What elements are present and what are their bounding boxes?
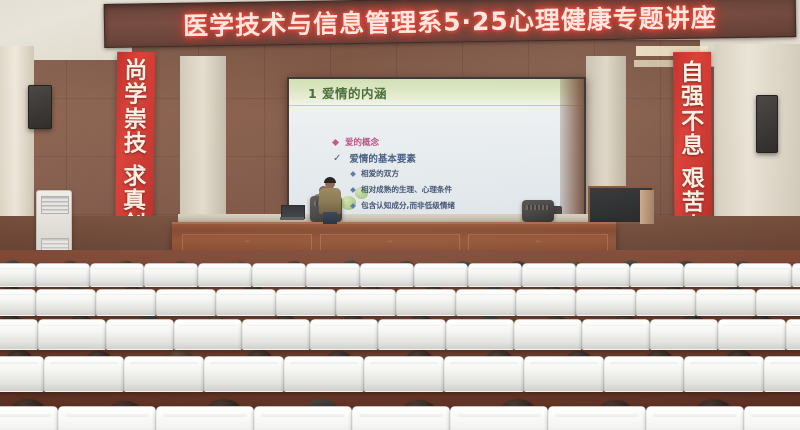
auditorium-seat bbox=[738, 263, 792, 287]
auditorium-seat bbox=[444, 356, 524, 392]
slogan-right-char-3: 息 bbox=[681, 134, 704, 159]
auditorium-seat bbox=[646, 406, 744, 430]
auditorium-seat bbox=[284, 356, 364, 392]
slogan-left-char-6: 真 bbox=[123, 189, 146, 214]
auditorium-seat bbox=[198, 263, 252, 287]
auditorium-seat bbox=[254, 406, 352, 430]
diamond-bullet-icon bbox=[350, 203, 356, 209]
auditorium-seat bbox=[468, 263, 522, 287]
auditorium-seat bbox=[0, 356, 44, 392]
auditorium-seat bbox=[156, 289, 216, 316]
auditorium-seat bbox=[792, 263, 800, 287]
auditorium-seat bbox=[516, 289, 576, 316]
audience-area bbox=[0, 250, 800, 430]
slogan-right-char-5: 艰 bbox=[682, 166, 705, 191]
presenter bbox=[319, 178, 341, 224]
slide-bullet-1-label: 爱的概念 bbox=[345, 136, 379, 148]
slide-header-band: 1 爱情的内涵 bbox=[289, 79, 584, 106]
slide-title: 1 爱情的内涵 bbox=[308, 83, 387, 102]
auditorium-seat bbox=[106, 319, 174, 350]
auditorium-seat bbox=[576, 289, 636, 316]
auditorium-seat bbox=[456, 289, 516, 316]
auditorium-seat bbox=[650, 319, 718, 350]
slide-sub-bullet: 相对成熟的生理、心理条件 bbox=[351, 184, 485, 195]
diamond-bullet-icon bbox=[350, 187, 356, 193]
wall-speaker-left-icon bbox=[28, 85, 52, 129]
slide-sub-bullet-label: 相爱的双方 bbox=[361, 168, 399, 179]
slogan-right-char-6: 苦 bbox=[682, 191, 705, 216]
auditorium-seat bbox=[204, 356, 284, 392]
event-banner-text: 医学技术与信息管理系5·25心理健康专题讲座 bbox=[183, 0, 717, 43]
auditorium-seat bbox=[96, 289, 156, 316]
screen-right-pillar-shadow bbox=[560, 79, 584, 218]
slide-bullet-2: ✓ 爱情的基本要素 bbox=[333, 151, 416, 165]
auditorium-seat bbox=[252, 263, 306, 287]
auditorium-seat bbox=[310, 319, 378, 350]
presenter-body bbox=[319, 188, 341, 214]
auditorium-seat bbox=[352, 406, 450, 430]
slide-sub-bullet: 相爱的双方 bbox=[351, 168, 485, 179]
auditorium-seat bbox=[144, 263, 198, 287]
auditorium-seat bbox=[450, 406, 548, 430]
auditorium-seat bbox=[378, 319, 446, 350]
auditorium-seat bbox=[242, 319, 310, 350]
stage-right-column bbox=[640, 190, 654, 224]
auditorium-seat bbox=[0, 319, 38, 350]
diamond-bullet-icon bbox=[332, 138, 339, 145]
auditorium-seat bbox=[36, 289, 96, 316]
auditorium-seat bbox=[36, 263, 90, 287]
auditorium-seat bbox=[684, 263, 738, 287]
slogan-right-char-2: 不 bbox=[681, 110, 704, 135]
auditorium-seat bbox=[684, 356, 764, 392]
auditorium-seat bbox=[156, 406, 254, 430]
auditorium-seat bbox=[360, 263, 414, 287]
auditorium-seat bbox=[174, 319, 242, 350]
auditorium-seat bbox=[216, 289, 276, 316]
slide-sub-bullet-label: 相对成熟的生理、心理条件 bbox=[361, 184, 452, 195]
wall-speaker-right-icon bbox=[756, 95, 778, 153]
auditorium-seat bbox=[0, 406, 58, 430]
presenter-hair bbox=[324, 177, 336, 183]
air-conditioner-vent-top bbox=[41, 196, 69, 214]
auditorium-seat bbox=[38, 319, 106, 350]
slide-sub-bullet: 包含认知成分,而非低级情绪 bbox=[351, 200, 485, 211]
auditorium-seat bbox=[396, 289, 456, 316]
auditorium-seat bbox=[576, 263, 630, 287]
slogan-left-char-2: 崇 bbox=[124, 108, 147, 133]
auditorium-seat bbox=[786, 319, 800, 350]
auditorium-seat bbox=[414, 263, 468, 287]
presenter-legs bbox=[323, 212, 337, 224]
slide-bullet-1: 爱的概念 bbox=[333, 136, 379, 148]
diamond-bullet-icon bbox=[350, 171, 356, 177]
slogan-left-char-5: 求 bbox=[123, 164, 146, 189]
laptop-base bbox=[280, 217, 304, 220]
slogan-right-char-0: 自 bbox=[681, 61, 704, 86]
auditorium-seat bbox=[306, 263, 360, 287]
auditorium-seat bbox=[604, 356, 684, 392]
auditorium-seat bbox=[124, 356, 204, 392]
auditorium-seat bbox=[336, 289, 396, 316]
auditorium-seat bbox=[276, 289, 336, 316]
auditorium-seat bbox=[696, 289, 756, 316]
auditorium-seat bbox=[548, 406, 646, 430]
auditorium-seat bbox=[630, 263, 684, 287]
slide-bullet-2-label: 爱情的基本要素 bbox=[349, 151, 416, 165]
auditorium-seat bbox=[636, 289, 696, 316]
auditorium-seat bbox=[718, 319, 786, 350]
auditorium-seat bbox=[764, 356, 800, 392]
slogan-right-char-1: 强 bbox=[681, 85, 704, 110]
laptop-icon bbox=[280, 205, 304, 220]
slogan-left-char-0: 尚 bbox=[124, 59, 147, 84]
slide-sub-bullet-list: 相爱的双方相对成熟的生理、心理条件包含认知成分,而非低级情绪包含性欲、性感,而非… bbox=[351, 168, 485, 218]
check-icon: ✓ bbox=[333, 153, 341, 164]
auditorium-seat bbox=[756, 289, 800, 316]
slogan-left-char-3: 技 bbox=[124, 132, 147, 157]
wall-pilaster-center-left bbox=[180, 56, 226, 226]
auditorium-seat bbox=[582, 319, 650, 350]
auditorium-seat bbox=[514, 319, 582, 350]
auditorium-seat bbox=[364, 356, 444, 392]
slogan-left-char-1: 学 bbox=[124, 83, 147, 108]
auditorium-seat bbox=[0, 289, 36, 316]
auditorium-seat bbox=[58, 406, 156, 430]
lecture-hall-photo: 医学技术与信息管理系5·25心理健康专题讲座 尚学崇技求真创新 自强不息艰苦奋斗… bbox=[0, 0, 800, 430]
projector-icon-2 bbox=[522, 200, 554, 222]
slide-sub-bullet-label: 包含认知成分,而非低级情绪 bbox=[361, 200, 455, 211]
auditorium-seat bbox=[524, 356, 604, 392]
auditorium-seat bbox=[0, 263, 36, 287]
auditorium-seat bbox=[446, 319, 514, 350]
auditorium-seat bbox=[90, 263, 144, 287]
auditorium-seat bbox=[522, 263, 576, 287]
auditorium-seat bbox=[44, 356, 124, 392]
auditorium-seat bbox=[744, 406, 800, 430]
